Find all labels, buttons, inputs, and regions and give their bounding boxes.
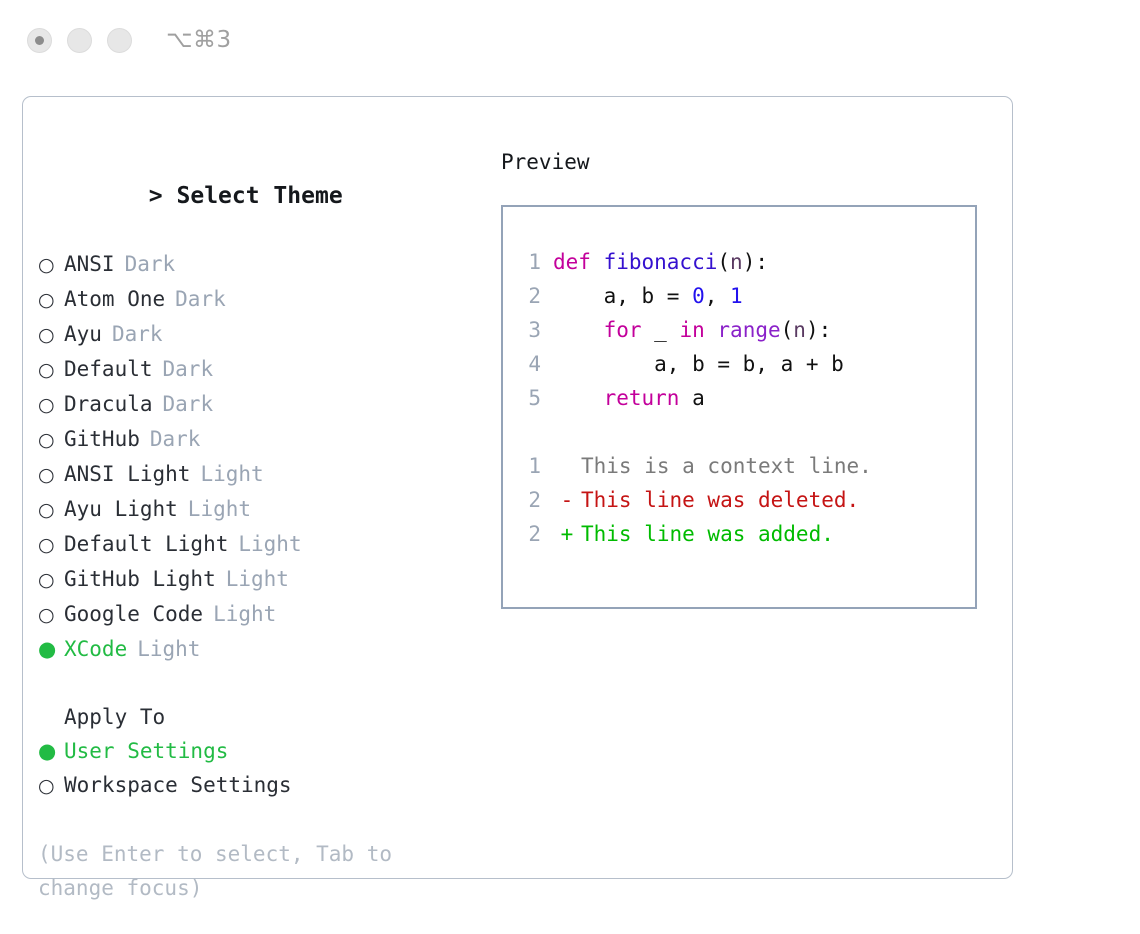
diff-line-number: 2 [503, 517, 553, 551]
window-dot-second[interactable] [67, 28, 92, 53]
code-line-text: def fibonacci(n): [553, 245, 768, 279]
code-line-number: 5 [503, 381, 553, 415]
diff-line-add: 2+This line was added. [503, 517, 975, 551]
preview-spacer [503, 415, 975, 449]
radio-unselected-icon: ○ [38, 563, 64, 597]
apply-to-option-workspace-settings[interactable]: ○Workspace Settings [38, 768, 493, 803]
code-token-plain: , [705, 284, 730, 308]
radio-unselected-icon: ○ [38, 598, 64, 632]
code-token-punc: n [793, 318, 806, 342]
theme-option-default[interactable]: ○DefaultDark [38, 352, 493, 387]
radio-unselected-icon: ○ [38, 353, 64, 387]
code-line: 3 for _ in range(n): [503, 313, 975, 347]
theme-option-dracula[interactable]: ○DraculaDark [38, 387, 493, 422]
window-dot-third[interactable] [107, 28, 132, 53]
theme-option-label: XCode [64, 632, 127, 666]
code-token-plain: a, b = b, a + b [553, 352, 844, 376]
code-line-number: 1 [503, 245, 553, 279]
select-theme-heading-label: Select Theme [177, 183, 343, 209]
theme-option-xcode[interactable]: ●XCodeLight [38, 632, 493, 666]
diff-preview: 1 This is a context line.2-This line was… [503, 449, 975, 551]
keyboard-shortcut-label: ⌥⌘3 [166, 29, 232, 52]
apply-to-list: ●User Settings○Workspace Settings [38, 734, 493, 803]
code-token-fn: fibonacci [604, 250, 718, 274]
window-titlebar: ⌥⌘3 [0, 0, 1140, 80]
window-dot-active[interactable] [27, 28, 52, 53]
diff-line-del: 2-This line was deleted. [503, 483, 975, 517]
code-line-text: return a [553, 381, 705, 415]
code-line-number: 4 [503, 347, 553, 381]
apply-to-option-user-settings[interactable]: ●User Settings [38, 734, 493, 768]
code-line: 4 a, b = b, a + b [503, 347, 975, 381]
diff-line-ctx: 1 This is a context line. [503, 449, 975, 483]
theme-list: ○ANSIDark○Atom OneDark○AyuDark○DefaultDa… [38, 247, 493, 666]
code-token-call: range [717, 318, 780, 342]
theme-option-tag: Light [216, 562, 289, 596]
theme-option-tag: Dark [153, 387, 214, 421]
theme-option-tag: Light [190, 457, 263, 491]
theme-option-label: GitHub Light [64, 562, 216, 596]
code-line: 1def fibonacci(n): [503, 245, 975, 279]
radio-selected-icon: ● [38, 734, 64, 768]
theme-selection-column: > Select Theme ○ANSIDark○Atom OneDark○Ay… [38, 145, 493, 905]
radio-unselected-icon: ○ [38, 769, 64, 803]
preview-heading: Preview [501, 145, 1001, 179]
code-token-plain: ( [717, 250, 730, 274]
theme-option-label: ANSI [64, 247, 115, 281]
code-line-text: a, b = b, a + b [553, 347, 844, 381]
diff-sign-del: - [553, 483, 581, 517]
theme-option-github-light[interactable]: ○GitHub LightLight [38, 562, 493, 597]
code-token-kw: return [604, 386, 680, 410]
apply-to-section: Apply To ●User Settings○Workspace Settin… [38, 700, 493, 803]
keyboard-hint-text: (Use Enter to select, Tab to change focu… [38, 837, 458, 905]
radio-unselected-icon: ○ [38, 423, 64, 457]
radio-unselected-icon: ○ [38, 283, 64, 317]
diff-line-text: This is a context line. [581, 449, 872, 483]
code-token-plain: ): [806, 318, 831, 342]
diff-sign-add: + [553, 517, 581, 551]
diff-line-number: 2 [503, 483, 553, 517]
theme-option-label: Default Light [64, 527, 228, 561]
code-preview: 1def fibonacci(n):2 a, b = 0, 13 for _ i… [503, 245, 975, 415]
select-theme-heading: > Select Theme [38, 145, 493, 247]
apply-to-heading: Apply To [38, 700, 493, 734]
code-token-plain: a, b = [553, 284, 692, 308]
theme-option-label: Dracula [64, 387, 153, 421]
prompt-caret-icon: > [149, 183, 163, 209]
diff-line-text: This line was deleted. [581, 483, 859, 517]
code-token-punc: n [730, 250, 743, 274]
theme-option-ansi[interactable]: ○ANSIDark [38, 247, 493, 282]
code-line-number: 2 [503, 279, 553, 313]
radio-unselected-icon: ○ [38, 318, 64, 352]
code-token-plain [705, 318, 718, 342]
theme-option-tag: Dark [102, 317, 163, 351]
theme-option-tag: Light [203, 597, 276, 631]
diff-line-text: This line was added. [581, 517, 834, 551]
radio-unselected-icon: ○ [38, 248, 64, 282]
theme-option-tag: Light [127, 632, 200, 666]
diff-sign-ctx [553, 449, 581, 483]
theme-option-tag: Dark [153, 352, 214, 386]
code-token-plain: ( [781, 318, 794, 342]
diff-line-number: 1 [503, 449, 553, 483]
radio-unselected-icon: ○ [38, 493, 64, 527]
code-token-kw: def [553, 250, 604, 274]
code-token-num: 1 [730, 284, 743, 308]
preview-box: 1def fibonacci(n):2 a, b = 0, 13 for _ i… [501, 205, 977, 609]
code-token-plain: a [679, 386, 704, 410]
theme-option-ayu-light[interactable]: ○Ayu LightLight [38, 492, 493, 527]
radio-unselected-icon: ○ [38, 458, 64, 492]
radio-unselected-icon: ○ [38, 528, 64, 562]
theme-option-label: Ayu [64, 317, 102, 351]
code-line-text: a, b = 0, 1 [553, 279, 743, 313]
radio-unselected-icon: ○ [38, 388, 64, 422]
code-token-plain: _ [642, 318, 680, 342]
theme-option-label: Default [64, 352, 153, 386]
theme-option-ayu[interactable]: ○AyuDark [38, 317, 493, 352]
theme-option-label: ANSI Light [64, 457, 190, 491]
theme-option-label: Atom One [64, 282, 165, 316]
theme-option-tag: Light [228, 527, 301, 561]
code-line-text: for _ in range(n): [553, 313, 831, 347]
code-token-plain: ): [743, 250, 768, 274]
theme-option-tag: Dark [165, 282, 226, 316]
apply-to-option-label: User Settings [64, 734, 228, 768]
window-controls [27, 28, 132, 53]
theme-option-google-code[interactable]: ○Google CodeLight [38, 597, 493, 632]
theme-option-label: Google Code [64, 597, 203, 631]
code-token-plain [553, 318, 604, 342]
code-token-kw: in [679, 318, 704, 342]
theme-option-label: Ayu Light [64, 492, 178, 526]
code-token-plain [553, 386, 604, 410]
theme-option-tag: Dark [115, 247, 176, 281]
theme-option-label: GitHub [64, 422, 140, 456]
code-line-number: 3 [503, 313, 553, 347]
window-dot-active-inner [35, 36, 44, 45]
apply-to-option-label: Workspace Settings [64, 768, 292, 802]
preview-column: Preview 1def fibonacci(n):2 a, b = 0, 13… [501, 145, 1001, 609]
theme-option-atom-one[interactable]: ○Atom OneDark [38, 282, 493, 317]
radio-selected-icon: ● [38, 632, 64, 666]
code-token-kw: for [604, 318, 642, 342]
theme-option-default-light[interactable]: ○Default LightLight [38, 527, 493, 562]
theme-option-ansi-light[interactable]: ○ANSI LightLight [38, 457, 493, 492]
theme-option-tag: Light [178, 492, 251, 526]
code-line: 5 return a [503, 381, 975, 415]
code-line: 2 a, b = 0, 1 [503, 279, 975, 313]
theme-option-tag: Dark [140, 422, 201, 456]
theme-picker-panel: > Select Theme ○ANSIDark○Atom OneDark○Ay… [22, 96, 1013, 879]
code-token-num: 0 [692, 284, 705, 308]
theme-option-github[interactable]: ○GitHubDark [38, 422, 493, 457]
